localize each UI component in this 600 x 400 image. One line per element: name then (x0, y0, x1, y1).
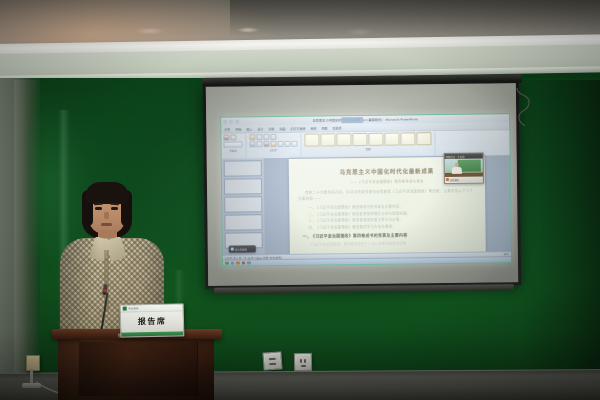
shape-style-swatch[interactable] (416, 132, 431, 145)
remote-room-desk (445, 173, 483, 177)
shape-style-swatch[interactable] (368, 133, 383, 146)
font-name-box[interactable] (223, 141, 242, 147)
start-menu-icon[interactable] (225, 261, 229, 265)
presenter-mouth (101, 223, 112, 226)
bold-icon[interactable] (249, 141, 255, 147)
presenter-hair-front (85, 182, 129, 204)
shape-style-swatch[interactable] (400, 132, 415, 145)
ribbon-row (223, 134, 242, 140)
highlight-icon[interactable] (270, 141, 276, 147)
screenshot-root: 马克思主义中国化时代化最新成果.ppt [兼容模式] - Microsoft P… (0, 0, 600, 400)
socket-pin (304, 359, 306, 363)
floor-device-base (22, 383, 41, 388)
titlebar-highlight (341, 117, 363, 123)
slide-paragraph: 党的二十大胜利召开后，中共中央宣传部向全党推荐《习近平谈治国理政》第四卷，主要包… (298, 189, 476, 202)
ribbon-tab-view[interactable]: 视图 (321, 126, 327, 130)
ribbon-tab-design[interactable]: 设计 (257, 127, 263, 131)
undo-icon[interactable] (229, 119, 233, 123)
bullets-icon[interactable] (291, 141, 297, 147)
organization-logo-icon (123, 307, 127, 311)
remote-participant-body (452, 167, 462, 174)
paste-icon[interactable] (223, 135, 229, 141)
video-conference-status: 正在演示 (450, 177, 459, 181)
ppt-window-title: 马克思主义中国化时代化最新成果.ppt [兼容模式] - Microsoft P… (313, 117, 418, 122)
shape-style-swatch[interactable] (320, 133, 335, 146)
screen-surface: 马克思主义中国化时代化最新成果.ppt [兼容模式] - Microsoft P… (206, 83, 518, 286)
microphone-indicator-icon (103, 289, 107, 293)
slide-thumbnail[interactable] (224, 214, 262, 230)
align-left-icon[interactable] (277, 141, 283, 147)
redo-icon[interactable] (235, 119, 239, 123)
slide-bullet-list: 一、《习近平谈治国理政》第四卷成书的背景及主要内容。 二、《习近平谈治国理政》第… (298, 203, 476, 232)
reset-icon[interactable] (263, 134, 269, 140)
slide-thumbnail[interactable] (224, 178, 262, 194)
presenter-eye-right (111, 207, 118, 210)
presenter-view-label: 演示者视图 (235, 247, 247, 251)
socket-pin (300, 359, 302, 363)
wall-plate-slot (269, 363, 276, 365)
nameplate-footer-band (121, 331, 183, 336)
ribbon-row (249, 141, 297, 148)
socket-pin (301, 365, 306, 367)
slide-thumbnail[interactable] (224, 196, 262, 212)
ribbon-row (249, 134, 297, 141)
slide-thumbnail[interactable] (224, 160, 262, 176)
slide-list-item: 四、《习近平谈治国理政》第四卷的学习方法与要求。 (298, 222, 476, 231)
shape-style-swatch[interactable] (304, 134, 319, 147)
shape-style-swatch[interactable] (336, 133, 351, 146)
ribbon-group-slides[interactable]: 幻灯片 (249, 134, 301, 161)
presenter-icon (230, 248, 233, 251)
nameplate-organization: 中共党校 (128, 306, 138, 310)
shape-style-swatch[interactable] (384, 133, 399, 146)
ribbon-tab-home[interactable]: 开始 (235, 127, 241, 131)
ribbon-tab-review[interactable]: 审阅 (310, 126, 316, 130)
ribbon-tab-transitions[interactable]: 切换 (268, 127, 274, 131)
cut-icon[interactable] (230, 135, 236, 141)
save-icon[interactable] (223, 119, 227, 123)
nameplate-text: 报告席 (121, 315, 183, 327)
align-center-icon[interactable] (284, 141, 290, 147)
ribbon-group-label: 幻灯片 (250, 148, 298, 153)
wall-plate-inner (266, 355, 280, 368)
presenter-eye-left (95, 207, 102, 210)
projection-screen[interactable]: 马克思主义中国化时代化最新成果.ppt [兼容模式] - Microsoft P… (203, 80, 521, 289)
ribbon-tab-animations[interactable]: 动画 (279, 126, 285, 130)
ribbon-tab-insert[interactable]: 插入 (246, 127, 252, 131)
video-conference-window[interactable]: 视频会议 - 主会场 正在演示 (444, 153, 484, 184)
podium-nameplate: 中共党校 报告席 (120, 303, 185, 337)
powerpoint-icon[interactable] (241, 261, 245, 265)
italic-icon[interactable] (256, 141, 262, 147)
ribbon-tab-slideshow[interactable]: 幻灯片放映 (290, 126, 305, 130)
wall-plate-inner (297, 356, 309, 368)
presenter-nose (104, 212, 109, 219)
podium-shading (58, 337, 214, 400)
slide-trailing-text: 《习近平谈治国理政》第四卷是党的十八大以来第四部集中反映 (299, 240, 477, 247)
presenter-view-button[interactable]: 演示者视图 (229, 245, 256, 252)
nameplate-header: 中共党校 (121, 304, 183, 312)
slide-thumbnail-pane[interactable] (222, 158, 265, 256)
video-conference-footer: 正在演示 (445, 177, 483, 182)
power-wall-plate[interactable] (294, 353, 312, 371)
browser-icon[interactable] (236, 261, 240, 265)
ribbon-group-clipboard[interactable]: 剪贴板 (223, 134, 246, 160)
ribbon-group-label: 绘图 (305, 146, 432, 152)
network-wall-plate[interactable] (262, 351, 282, 370)
video-conference-feed (445, 159, 483, 177)
slide-section-heading: 一、《习近平谈治国理政》第四卷成书的背景及主要内容 (299, 232, 477, 240)
wall-plate-slot (269, 358, 276, 360)
quick-access-toolbar[interactable] (223, 119, 239, 123)
shape-style-swatch[interactable] (352, 133, 367, 146)
ribbon-tab-file[interactable]: 文件 (224, 127, 230, 131)
projected-powerpoint-window[interactable]: 马克思主义中国化时代化最新成果.ppt [兼容模式] - Microsoft P… (220, 113, 512, 267)
presenter-and-podium: 中共党校 报告席 (52, 176, 222, 400)
meeting-app-icon[interactable] (247, 261, 251, 265)
font-color-icon[interactable] (263, 141, 269, 147)
ribbon-tab-addins[interactable]: 加载项 (332, 126, 341, 130)
ribbon-row (223, 141, 242, 147)
ribbon-group-label: 剪贴板 (224, 148, 243, 152)
floor-speaker-device (26, 355, 40, 371)
recording-indicator-icon (446, 178, 449, 181)
hanging-cable (514, 88, 536, 126)
ribbon-row (304, 132, 431, 147)
new-slide-icon[interactable] (249, 134, 255, 140)
section-icon[interactable] (270, 134, 276, 140)
explorer-icon[interactable] (230, 261, 234, 265)
layout-icon[interactable] (256, 134, 262, 140)
remote-participant-head (455, 163, 459, 167)
